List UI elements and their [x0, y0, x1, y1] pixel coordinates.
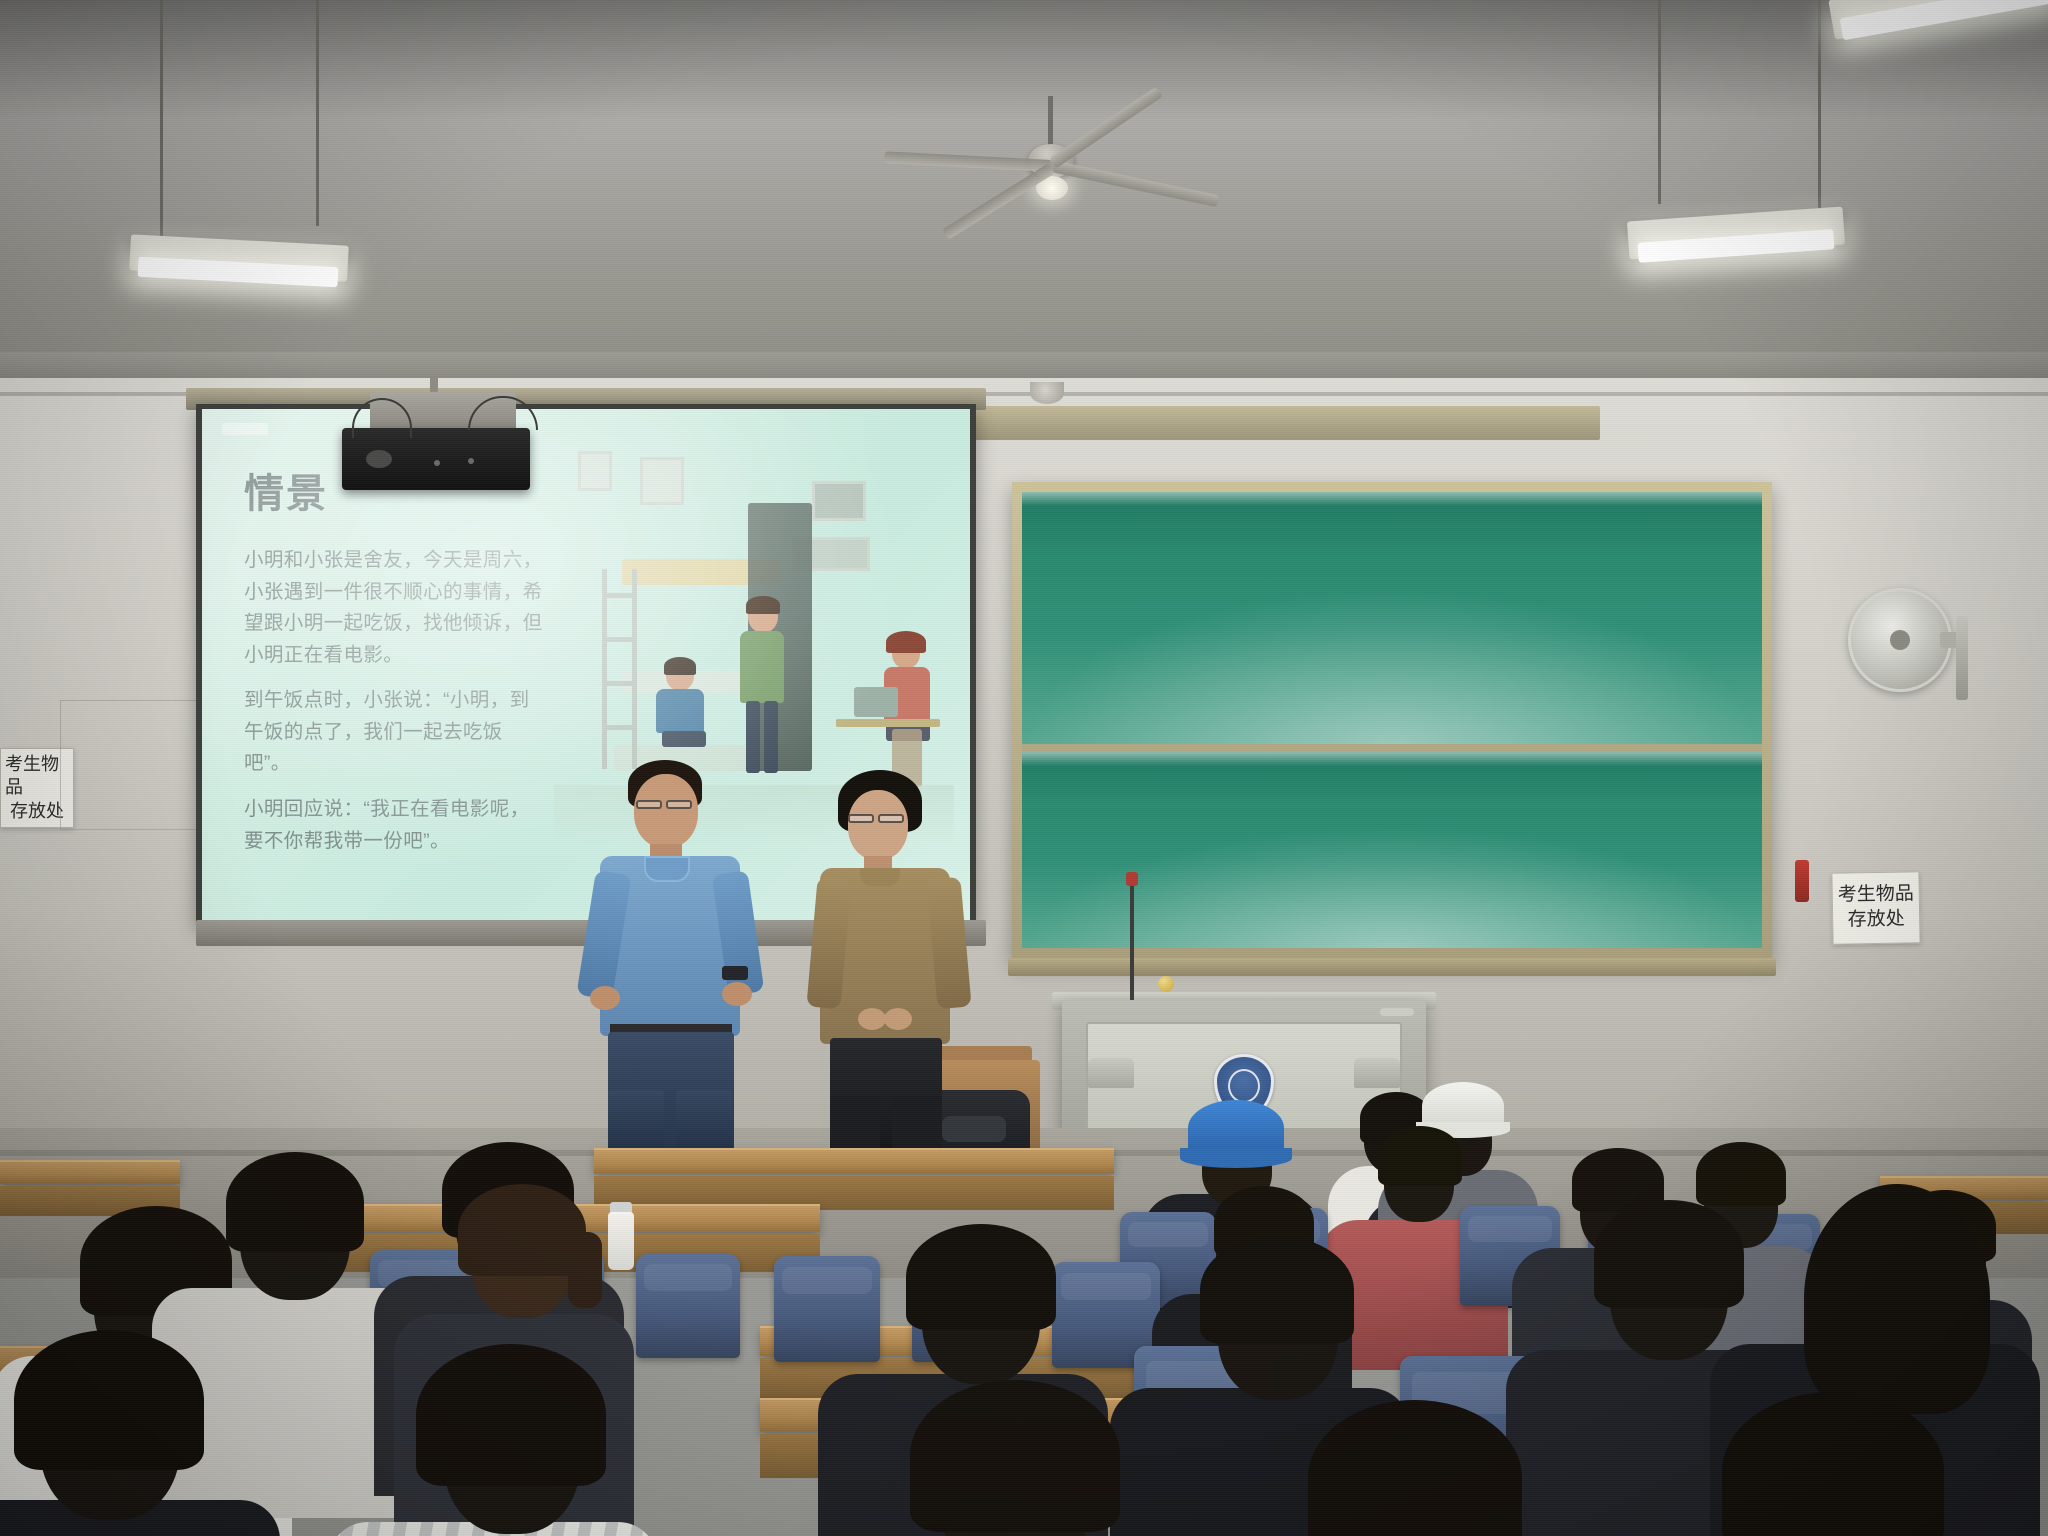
desk-icon: [836, 719, 940, 727]
audience-hair: [1200, 1236, 1354, 1344]
podium-right-tray: [1354, 1058, 1400, 1088]
fan-blade: [1049, 86, 1163, 169]
person-hair: [886, 631, 926, 653]
audience-hair: [1804, 1184, 1990, 1414]
person-hair: [664, 657, 696, 675]
glasses-icon: [878, 814, 904, 823]
wall-shelf-icon: [812, 481, 866, 521]
fan-cage-icon: [1848, 588, 1952, 692]
presenter-collar: [644, 856, 690, 882]
slide-paragraph-3: 小明回应说：“我正在看电影呢，要不你帮我带一份吧”。: [244, 794, 544, 857]
projector-lens-icon: [366, 450, 392, 468]
desk-row-4: [594, 1148, 1114, 1174]
microphone-icon: [1126, 872, 1138, 886]
crest-inner-ring: [1228, 1069, 1260, 1103]
presenter-head: [848, 790, 908, 860]
presenter-collar: [860, 868, 900, 886]
audience-hair: [906, 1224, 1056, 1330]
fan-blade: [884, 151, 1052, 172]
blackboard-panel-top: [1022, 492, 1762, 744]
ceiling-speaker-icon: [1030, 382, 1064, 404]
chalk-dust: [1022, 588, 1762, 744]
person-shirt: [740, 631, 784, 703]
laptop-icon: [854, 687, 898, 717]
ladder-rung: [602, 725, 637, 730]
fixture-rod: [1658, 0, 1661, 204]
ponytail-icon: [568, 1232, 602, 1308]
ladder-rung: [602, 593, 637, 598]
fan-stem: [1048, 96, 1053, 148]
cap-brim-icon: [1180, 1148, 1292, 1168]
glasses-icon: [636, 800, 662, 809]
glasses-icon: [666, 800, 692, 809]
presenter-right-hand: [722, 982, 752, 1006]
podium-label-strip: [1380, 1008, 1414, 1016]
audience-hair: [1696, 1142, 1786, 1206]
wristwatch-icon: [722, 966, 748, 980]
audience-hair: [14, 1330, 204, 1470]
person-shirt: [656, 689, 704, 733]
audience-hair: [226, 1152, 364, 1252]
slide-body: 小明和小张是舍友，今天是周六，小张遇到一件很不顺心的事情，希望跟小明一起吃饭，找…: [244, 545, 544, 857]
audience-hair: [1594, 1200, 1744, 1308]
presenter-right-hand: [884, 1008, 912, 1030]
audience-hair: [1378, 1126, 1462, 1186]
wall-sign-left-line2: 存放处: [10, 800, 64, 823]
fixture-rod: [160, 0, 163, 240]
wall-sign-right-line1: 考生物品: [1838, 883, 1914, 909]
presenter-left-hand: [858, 1008, 886, 1030]
lecture-hall-photo: 考生物品 存放处 考生物品 存放处 情景 小明和小张是舍友，今天是周六，小张遇到…: [0, 0, 2048, 1536]
chalk-tray: [1008, 958, 1776, 976]
slide-paragraph-1: 小明和小张是舍友，今天是周六，小张遇到一件很不顺心的事情，希望跟小明一起吃饭，找…: [244, 545, 544, 671]
podium-knob: [1158, 976, 1174, 992]
ceiling-fan-center: [880, 96, 1220, 236]
projector-led-icon: [468, 458, 474, 464]
audience-hair: [458, 1184, 586, 1276]
podium-left-tray: [1088, 1058, 1134, 1088]
glasses-icon: [848, 814, 874, 823]
chalk-dust-top: [1022, 492, 1762, 506]
seat[interactable]: [636, 1254, 740, 1358]
ladder-rung: [602, 681, 637, 686]
person-leg: [764, 701, 778, 773]
wall-picture-icon: [578, 451, 612, 491]
chalk-dust-top: [1022, 752, 1762, 766]
wall-picture-icon: [640, 457, 684, 505]
fan-blade: [1051, 160, 1220, 207]
projector-led-icon: [434, 460, 440, 466]
blackboard: [1012, 482, 1772, 960]
fire-alarm-icon: [1795, 860, 1809, 902]
person-hair: [746, 596, 780, 614]
person-legs: [662, 731, 706, 747]
slide-paragraph-2: 到午饭点时，小张说：“小明，到午饭的点了，我们一起去吃饭吧”。: [244, 685, 544, 780]
fan-pole: [1956, 616, 1968, 700]
wall-sign-right: 考生物品 存放处: [1831, 871, 1920, 945]
fixture-rod: [316, 0, 319, 226]
presenter-instructor: [586, 760, 766, 1160]
presenter-left-hand: [590, 986, 620, 1010]
audience-hair: [416, 1344, 606, 1486]
audience-hair: [910, 1380, 1120, 1532]
wall-sign-right-line2: 存放处: [1847, 908, 1904, 934]
seat[interactable]: [774, 1256, 880, 1362]
ladder-icon: [600, 569, 640, 769]
fixture-rod: [1818, 0, 1821, 216]
fan-blade: [942, 163, 1055, 240]
presenter-head: [634, 774, 698, 848]
water-bottle: [608, 1212, 634, 1270]
presenter-student: [816, 770, 966, 1162]
wall-mounted-fan: [1848, 588, 1968, 698]
blackboard-divider: [1022, 744, 1762, 752]
ladder-rung: [602, 637, 637, 642]
microphone-stand: [1130, 880, 1134, 1000]
desk-row-5: [0, 1160, 180, 1184]
